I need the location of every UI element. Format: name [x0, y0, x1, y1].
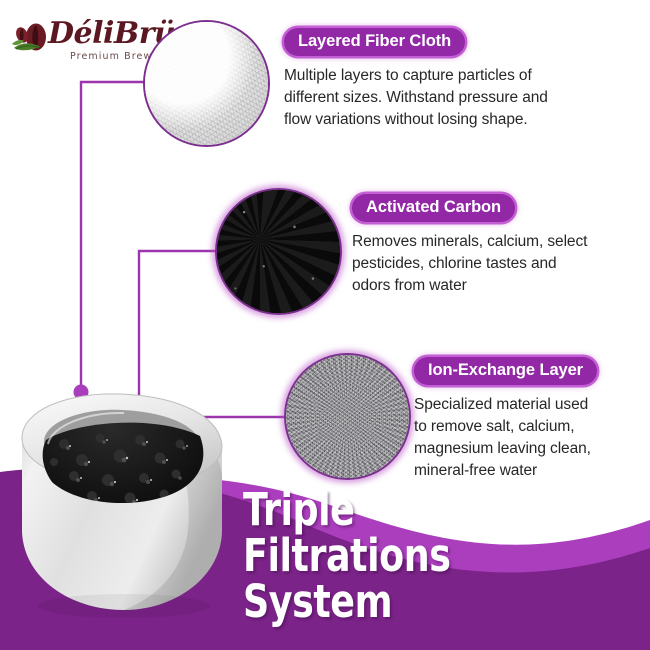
- description-line: flow variations without losing shape.: [284, 109, 634, 131]
- page-title-line: Filtrations: [243, 533, 450, 579]
- description-line: Multiple layers to capture particles of: [284, 65, 634, 87]
- texture-white-fiber-cloth: [145, 22, 268, 145]
- callout-ion-exchange-layer: Ion-Exchange Layer Specialized material …: [414, 357, 650, 482]
- description-layered-fiber-cloth: Multiple layers to capture particles of …: [284, 65, 634, 131]
- infographic-canvas: DéliBrü Premium Brewing Layered Fiber Cl…: [0, 0, 650, 650]
- description-line: odors from water: [352, 275, 650, 297]
- page-title: Triple Filtrations System: [243, 487, 450, 625]
- description-line: different sizes. Withstand pressure and: [284, 87, 634, 109]
- page-title-line: Triple: [243, 487, 450, 533]
- description-activated-carbon: Removes minerals, calcium, select pestic…: [352, 231, 650, 297]
- texture-grey-resin-granules: [286, 355, 409, 478]
- description-line: mineral-free water: [414, 460, 650, 482]
- callout-activated-carbon: Activated Carbon Removes minerals, calci…: [352, 194, 650, 297]
- badge-ion-exchange-layer[interactable]: Ion-Exchange Layer: [414, 357, 597, 385]
- description-line: Specialized material used: [414, 394, 650, 416]
- connector-path-fiber: [81, 82, 146, 392]
- sample-circle-layered-fiber-cloth: [143, 20, 270, 147]
- water-filter-cartridge: [8, 380, 248, 625]
- sample-circle-ion-exchange-layer: [284, 353, 411, 480]
- description-line: magnesium leaving clean,: [414, 438, 650, 460]
- description-ion-exchange-layer: Specialized material used to remove salt…: [414, 394, 650, 482]
- callout-layered-fiber-cloth: Layered Fiber Cloth Multiple layers to c…: [284, 28, 634, 131]
- texture-black-carbon-granules: [217, 190, 340, 313]
- sample-circle-activated-carbon: [215, 188, 342, 315]
- badge-activated-carbon[interactable]: Activated Carbon: [352, 194, 515, 222]
- badge-layered-fiber-cloth[interactable]: Layered Fiber Cloth: [284, 28, 465, 56]
- description-line: pesticides, chlorine tastes and: [352, 253, 650, 275]
- brand-logo: DéliBrü Premium Brewing: [8, 18, 168, 70]
- description-line: to remove salt, calcium,: [414, 416, 650, 438]
- page-title-line: System: [243, 579, 450, 625]
- description-line: Removes minerals, calcium, select: [352, 231, 650, 253]
